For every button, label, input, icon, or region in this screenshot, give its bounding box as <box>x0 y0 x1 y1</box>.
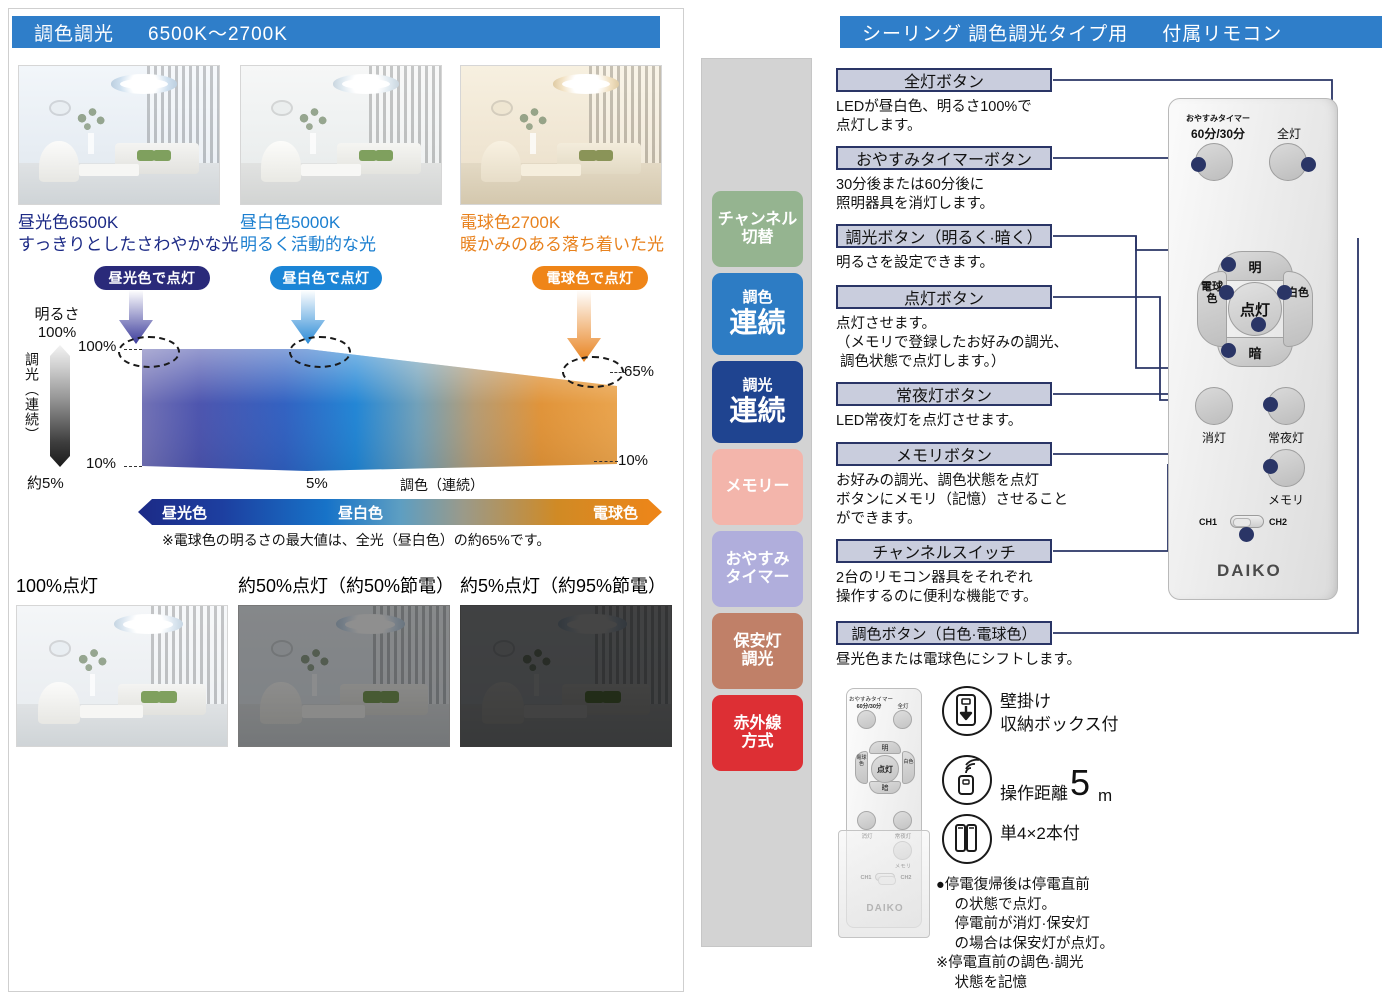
pill-daylight: 昼光色で点灯 <box>94 266 210 290</box>
dim-photo-50 <box>238 605 450 747</box>
feature-label-sleep-bottom: タイマー <box>725 569 789 587</box>
small-remote-power-label: 点灯 <box>871 764 899 775</box>
page-root: 調色調光 6500K〜2700K <box>0 0 1394 1000</box>
small-remote-night-button <box>893 811 912 830</box>
feature-label-toning-top: 調色 <box>742 290 772 307</box>
callout-desc-all-light: LEDが昼白色、明るさ100%で 点灯します。 <box>836 98 1032 136</box>
room-photo-daylight <box>18 65 220 205</box>
chart-dimming-label: 調光（連続） <box>22 352 42 442</box>
feature-label-ir-top: 赤外線 <box>733 715 781 733</box>
left-section-header: 調色調光 6500K〜2700K <box>12 16 660 48</box>
small-remote-sleep-button <box>857 710 876 729</box>
callout-dot-sleep-timer <box>1191 157 1206 172</box>
battery-text: 単4×2本付 <box>1000 822 1080 845</box>
remote-all-light-label: 全灯 <box>1263 125 1315 142</box>
remote-dpad: 明 暗 電球色 白色 点灯 <box>1197 251 1313 367</box>
callout-desc-sleep-timer: 30分後または60分後に 照明器具を消灯します。 <box>836 176 994 214</box>
callout-dot-white <box>1277 285 1292 300</box>
feature-label-sleep-top: おやすみ <box>725 551 789 569</box>
callout-desc-night-light: LED常夜灯を点灯させます。 <box>836 412 1022 431</box>
remote-sleep-timer-value: 60分/30分 <box>1175 125 1261 142</box>
callout-dot-channel-switch <box>1239 527 1254 542</box>
dim-photo-5 <box>460 605 672 747</box>
callout-desc-toning: 昼光色または電球色にシフトします。 <box>836 651 1081 670</box>
small-remote-dpad-right <box>902 751 915 784</box>
left-header-title: 調色調光 <box>34 19 114 46</box>
left-header-value: 6500K〜2700K <box>148 19 288 46</box>
color-mode-name-2: 電球色2700K <box>460 212 560 234</box>
feature-badge-memory: メモリー <box>712 449 803 525</box>
dim-example-label-0: 100%点灯 <box>16 575 98 597</box>
chart-brightness-label-bottom: 約5% <box>27 472 64 493</box>
remote-white-button[interactable] <box>1283 271 1313 347</box>
color-mode-desc-0: すっきりとしたさわやかな光 <box>18 234 238 256</box>
callout-label-memory: メモリボタン <box>836 442 1052 466</box>
feature-badge-infrared: 赤外線 方式 <box>712 695 803 771</box>
color-mode-desc-1: 明るく活動的な光 <box>240 234 376 256</box>
chart-ytick-100: 100% <box>78 338 116 355</box>
callout-desc-channel-switch: 2台のリモコン器具をそれぞれ 操作するのに便利な機能です。 <box>836 569 1038 607</box>
chart-annotation-65: 65% <box>624 363 654 380</box>
feature-label-memory: メモリー <box>725 478 789 496</box>
callout-desc-memory: お好みの調光、調色状態を点灯 ボタンにメモリ（記憶）させること ができます。 <box>836 472 1068 529</box>
dim-photo-100 <box>16 605 228 747</box>
small-remote-sleep-value: 60分/30分 <box>849 702 889 710</box>
callout-label-channel-switch: チャンネルスイッチ <box>836 539 1052 563</box>
pill-warm: 電球色で点灯 <box>532 266 648 290</box>
room-photo-neutral <box>240 65 442 205</box>
callout-dot-memory <box>1263 459 1278 474</box>
operating-distance-value: 5 <box>1070 762 1090 804</box>
dim-example-label-2: 約5%点灯（約95%節電） <box>460 575 666 597</box>
wall-mount-holder <box>838 830 930 938</box>
feature-label-dimming-top: 調光 <box>742 378 772 395</box>
remote-ch2-label: CH2 <box>1269 517 1287 527</box>
remote-off-button[interactable] <box>1195 387 1233 425</box>
right-header-value: 付属リモコン <box>1162 19 1282 46</box>
feature-rail: チャンネル 切替 調色 連続 調光 連続 メモリー おやすみ タイマー 保安灯 … <box>701 58 812 947</box>
chart-tick-line-10 <box>124 466 142 467</box>
small-remote-all-label: 全灯 <box>891 702 915 710</box>
callout-dot-bright-up <box>1221 257 1236 272</box>
wall-mount-text: 壁掛け 収納ボックス付 <box>1000 690 1119 736</box>
right-section-header: シーリング 調色調光タイプ用 付属リモコン <box>840 16 1382 48</box>
remote-night-light-label: 常夜灯 <box>1261 429 1311 446</box>
callout-label-power: 点灯ボタン <box>836 285 1052 309</box>
callout-desc-dimming: 明るさを設定できます。 <box>836 254 994 273</box>
feature-label-ir-bottom: 方式 <box>741 733 773 751</box>
color-mode-desc-2: 暖かみのある落ち着いた光 <box>460 234 664 256</box>
chart-marker-daylight <box>118 336 180 368</box>
callout-label-toning: 調色ボタン（白色·電球色） <box>836 621 1052 645</box>
callout-dot-all-light <box>1301 157 1316 172</box>
battery-icon <box>942 814 992 864</box>
feature-label-channel-top: チャンネル <box>718 211 798 229</box>
chart-ytick-10: 10% <box>86 455 116 472</box>
remote-ch1-label: CH1 <box>1199 517 1217 527</box>
callout-desc-power: 点灯させます。 （メモリで登録したお好みの調光、 調色状態で点灯します。） <box>836 315 1068 372</box>
remote-control-diagram: おやすみタイマー 60分/30分 全灯 明 暗 電球色 白色 点灯 <box>1168 98 1338 600</box>
chart-color-scale-bar: 昼光色 昼白色 電球色 <box>138 499 662 525</box>
remote-memory-label: メモリ <box>1261 491 1311 508</box>
feature-badge-sleep-timer: おやすみ タイマー <box>712 531 803 607</box>
callout-label-night-light: 常夜灯ボタン <box>836 382 1052 406</box>
callout-label-all-light: 全灯ボタン <box>836 68 1052 92</box>
small-remote-off-button <box>857 811 876 830</box>
small-remote-all-button <box>893 710 912 729</box>
feature-label-dimming-bottom: 連続 <box>729 395 785 426</box>
remote-sleep-timer-label: おやすみタイマー <box>1175 113 1261 124</box>
color-scale-right-label: 電球色 <box>593 502 638 523</box>
chart-brightness-label-top: 明るさ100% <box>22 306 92 342</box>
color-scale-center-label: 昼白色 <box>338 502 383 523</box>
callout-dot-warm <box>1219 285 1234 300</box>
operating-distance-unit: m <box>1098 784 1112 807</box>
remote-brand-logo: DAIKO <box>1217 561 1282 581</box>
callout-dot-night-light <box>1263 397 1278 412</box>
callout-label-sleep-timer: おやすみタイマーボタン <box>836 146 1052 170</box>
feature-badge-night-dimming: 保安灯 調光 <box>712 613 803 689</box>
dim-example-label-1: 約50%点灯（約50%節電） <box>238 575 454 597</box>
callout-dot-power <box>1251 317 1266 332</box>
feature-label-toning-bottom: 連続 <box>729 307 785 338</box>
chart-dimming-gradient-strip <box>50 345 70 467</box>
feature-label-night-bottom: 調光 <box>741 651 773 669</box>
color-scale-left-label: 昼光色 <box>162 502 207 523</box>
wall-mount-icon <box>942 686 992 736</box>
feature-label-channel-bottom: 切替 <box>741 229 773 247</box>
chart-marker-neutral <box>289 336 351 368</box>
small-remote-illustration: おやすみタイマー 60分/30分 全灯 明 暗 電球色 白色 点灯 消灯 常夜灯… <box>838 688 930 940</box>
power-outage-note: ●停電復帰後は停電直前 の状態で点灯。 停電前が消灯·保安灯 の場合は保安灯が点… <box>936 876 1114 993</box>
small-remote-dpad-up-label: 明 <box>869 743 901 753</box>
small-remote-dpad-left-label: 電球色 <box>855 755 868 767</box>
operating-distance-text: 操作距離 <box>1000 782 1068 805</box>
chart-xlabel: 調色（連続） <box>400 475 484 495</box>
callout-dot-bright-down <box>1221 343 1236 358</box>
chart-plot-area <box>142 340 617 472</box>
feature-badge-dimming: 調光 連続 <box>712 361 803 443</box>
feature-badge-toning: 調色 連続 <box>712 273 803 355</box>
chart-anno-line-10r <box>594 461 618 462</box>
chart-annotation-10-right: 10% <box>618 452 648 469</box>
feature-label-night-top: 保安灯 <box>733 633 781 651</box>
color-mode-name-1: 昼白色5000K <box>240 212 340 234</box>
feature-badge-channel: チャンネル 切替 <box>712 191 803 267</box>
remote-signal-icon <box>942 755 992 805</box>
chart-footnote: ※電球色の明るさの最大値は、全光（昼白色）の約65%です。 <box>162 530 550 550</box>
chart-annotation-5: 5% <box>306 475 328 492</box>
pill-neutral: 昼白色で点灯 <box>270 266 382 290</box>
small-remote-dpad-down-label: 暗 <box>869 783 901 793</box>
right-header-title: シーリング 調色調光タイプ用 <box>862 19 1128 46</box>
color-mode-name-0: 昼光色6500K <box>18 212 118 234</box>
small-remote-dpad-right-label: 白色 <box>902 759 915 765</box>
room-photo-warm <box>460 65 662 205</box>
callout-label-dimming: 調光ボタン（明るく·暗く） <box>836 224 1052 248</box>
remote-off-label: 消灯 <box>1189 429 1239 446</box>
